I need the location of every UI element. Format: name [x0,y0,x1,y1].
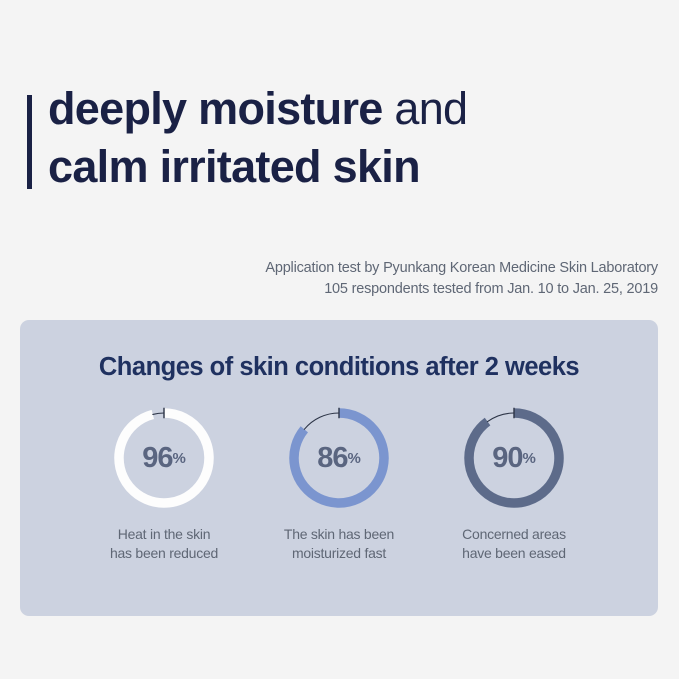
results-card: Changes of skin conditions after 2 weeks… [20,320,658,616]
stat-caption-line-2: have been eased [462,544,566,563]
donut-number: 86 [317,442,347,475]
stat-caption-line-1: Concerned areas [462,525,566,544]
stat-item: 96% Heat in the skin has been reduced [77,405,252,563]
stat-item: 86% The skin has been moisturized fast [252,405,427,563]
study-credit-line-2: 105 respondents tested from Jan. 10 to J… [265,279,658,300]
stat-caption: The skin has been moisturized fast [284,525,394,563]
stat-caption-line-1: The skin has been [284,525,394,544]
stat-caption: Heat in the skin has been reduced [110,525,218,563]
donut-chart: 86% [286,405,392,511]
donut-value: 90% [461,405,567,511]
donut-chart: 96% [111,405,217,511]
study-credit: Application test by Pyunkang Korean Medi… [265,258,658,300]
donut-chart: 90% [461,405,567,511]
donut-percent-symbol: % [172,450,185,467]
study-credit-line-1: Application test by Pyunkang Korean Medi… [265,258,658,279]
stat-caption: Concerned areas have been eased [462,525,566,563]
hero-accent-bar [27,95,32,189]
hero-line-2-strong: calm irritated skin [48,141,420,192]
donut-value: 86% [286,405,392,511]
donut-number: 90 [492,442,522,475]
hero-line-1-strong: deeply moisture [48,83,394,134]
stat-caption-line-1: Heat in the skin [110,525,218,544]
stat-caption-line-2: moisturized fast [284,544,394,563]
hero-line-1-light: and [394,83,467,134]
donut-number: 96 [142,442,172,475]
page-title: deeply moisture and calm irritated skin [48,80,648,196]
results-card-title: Changes of skin conditions after 2 weeks [20,353,658,382]
hero-line-2: calm irritated skin [48,138,648,196]
donut-percent-symbol: % [347,450,360,467]
stat-caption-line-2: has been reduced [110,544,218,563]
hero-line-1: deeply moisture and [48,80,648,138]
donut-stats-row: 96% Heat in the skin has been reduced 86… [20,405,658,563]
donut-percent-symbol: % [522,450,535,467]
donut-value: 96% [111,405,217,511]
stat-item: 90% Concerned areas have been eased [427,405,602,563]
